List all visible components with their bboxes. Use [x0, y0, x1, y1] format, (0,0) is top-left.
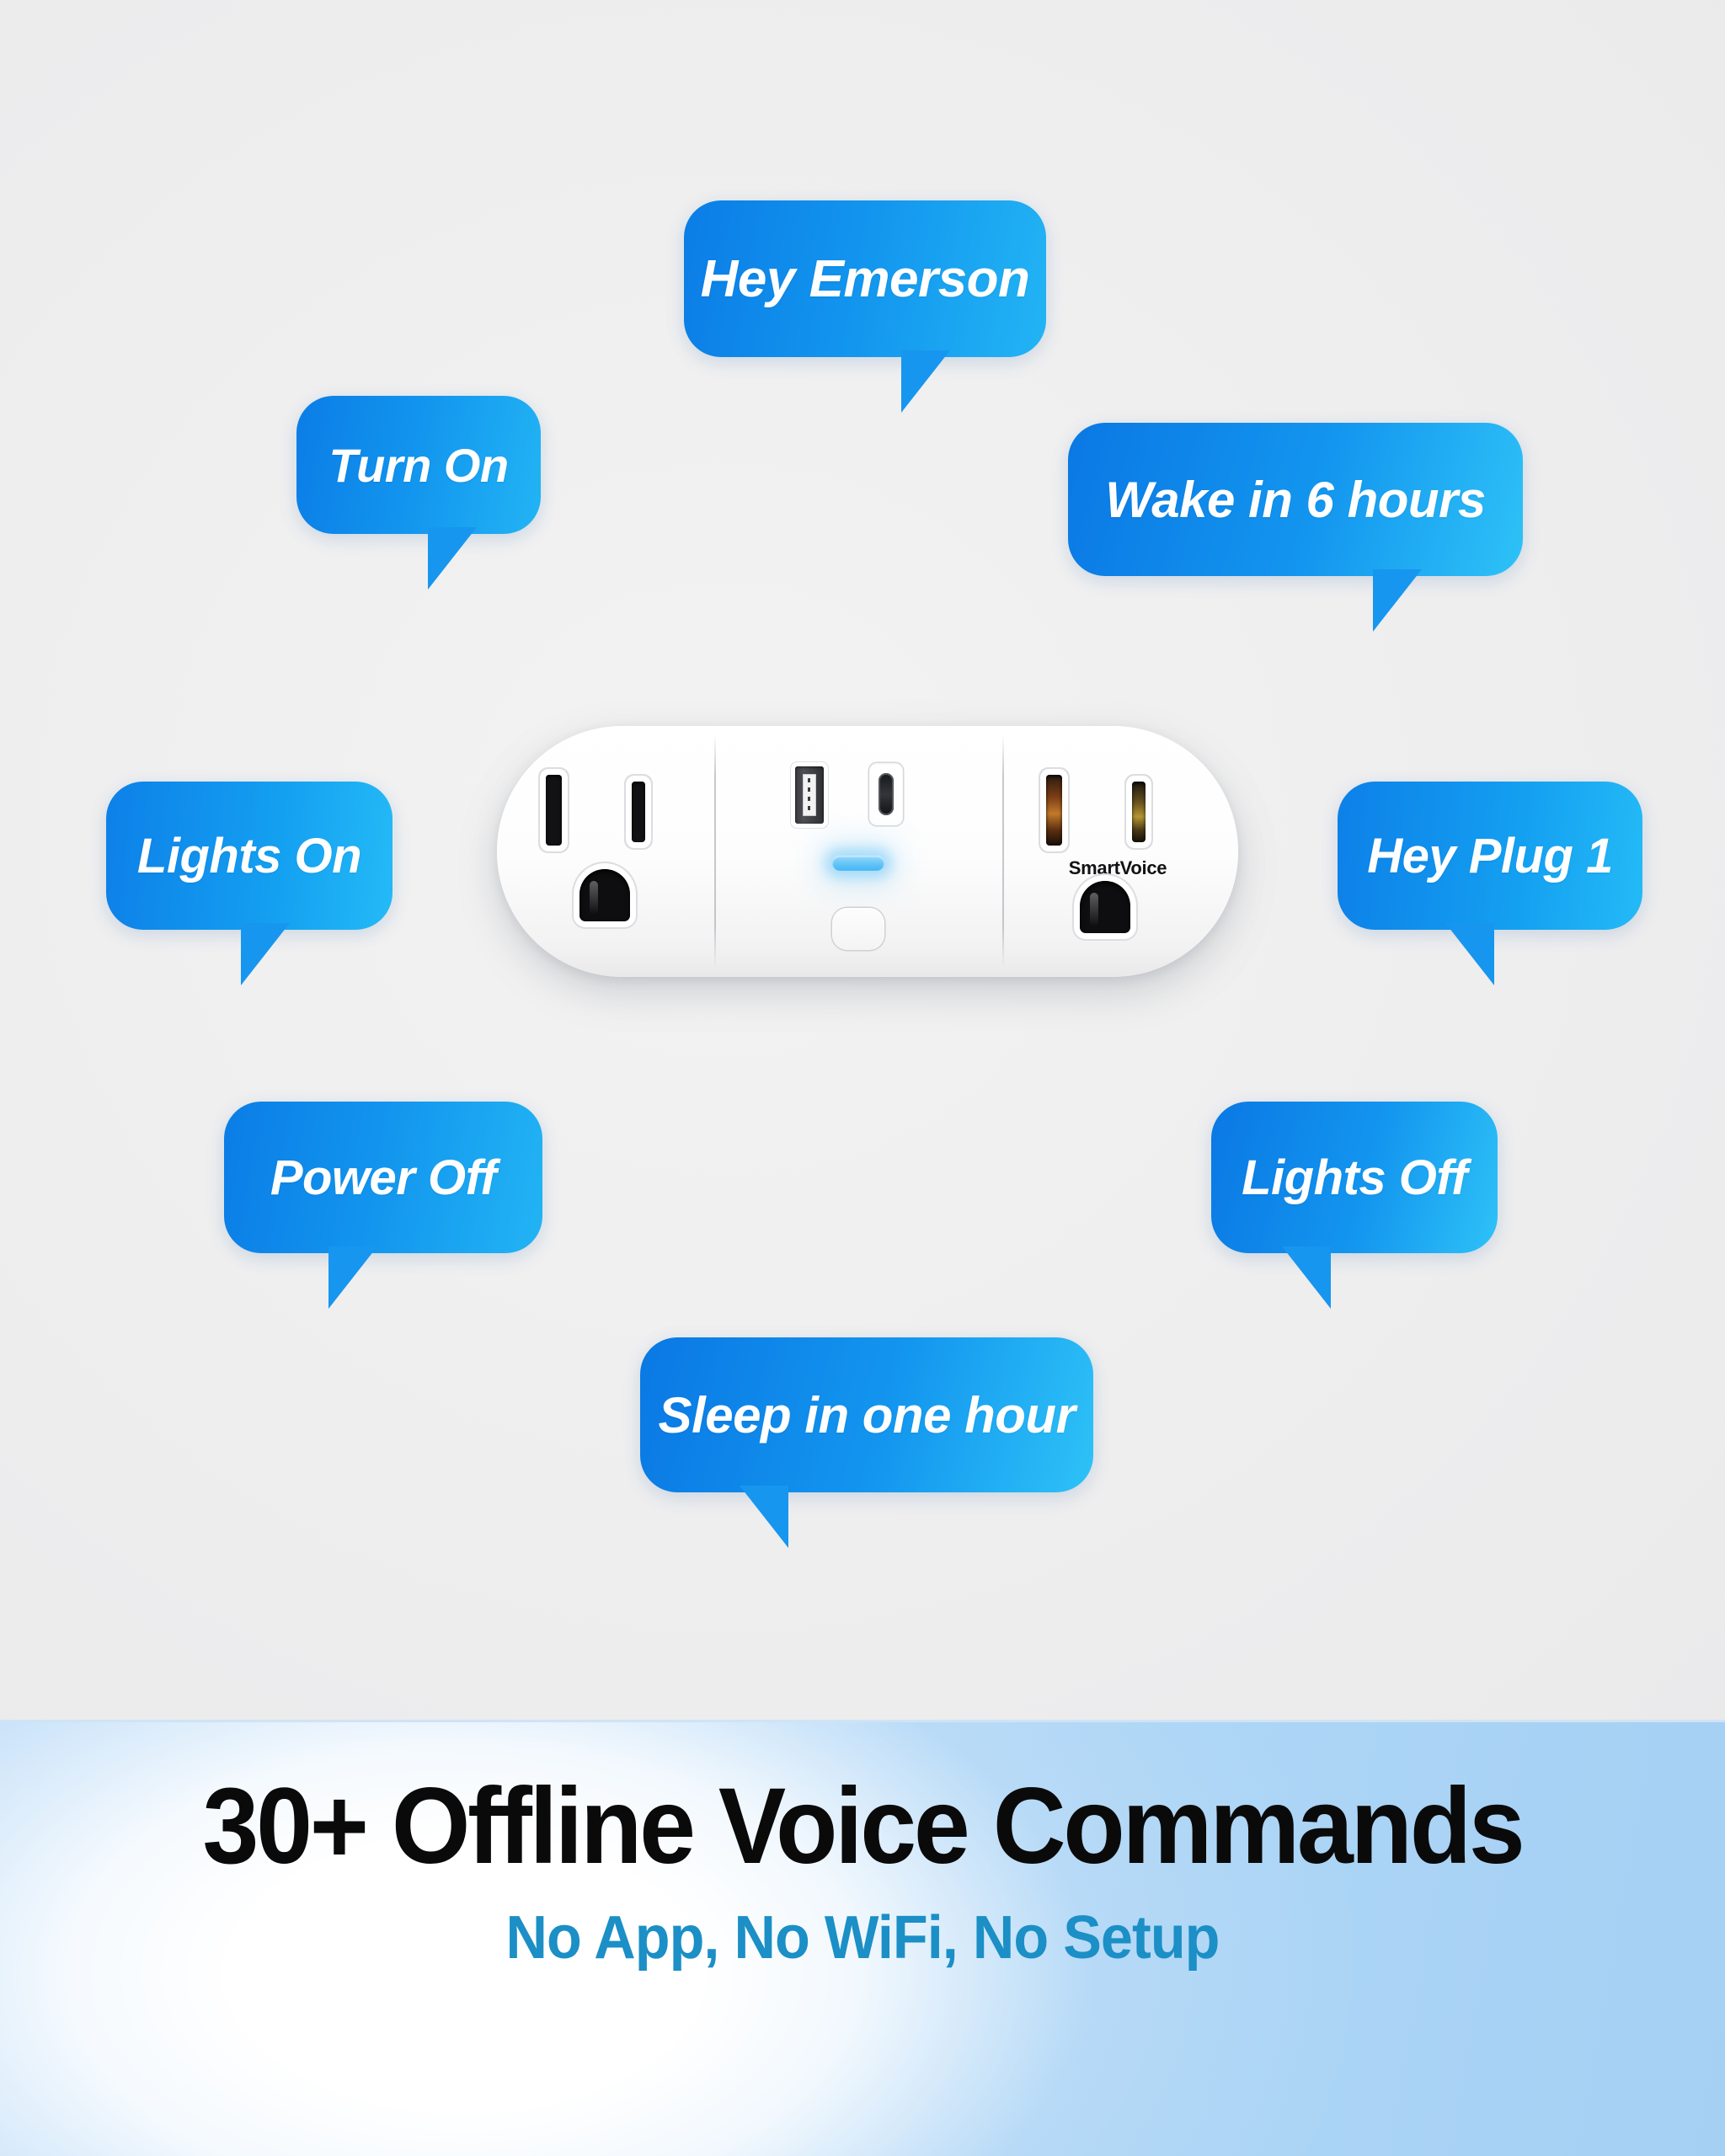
outlet-left-neutral-slot	[546, 775, 562, 846]
speech-bubble-wake-in-6-hours: Wake in 6 hours	[1068, 423, 1523, 576]
bubble-tail-hey-emerson	[901, 350, 950, 413]
smart-plug-device: SmartVoice	[497, 726, 1238, 977]
banner-subline: No App, No WiFi, No Setup	[43, 1908, 1682, 1968]
bubble-label-hey-plug-1: Hey Plug 1	[1367, 828, 1613, 884]
device-seam-right	[1002, 734, 1004, 969]
bubble-tail-wake-in-6-hours	[1373, 569, 1422, 632]
bubble-label-power-off: Power Off	[270, 1150, 496, 1206]
bubble-label-turn-on: Turn On	[328, 438, 508, 493]
product-marketing-image: Hey Emerson Turn On Wake in 6 hours Ligh…	[0, 0, 1725, 2156]
bubble-tail-lights-on	[241, 923, 290, 985]
outlet-right-hot-slot	[1132, 782, 1146, 842]
bubble-tail-lights-off	[1282, 1246, 1331, 1309]
bubble-tail-turn-on	[428, 527, 477, 590]
outlet-left-ground-hole	[579, 869, 630, 921]
bubble-label-wake-in-6-hours: Wake in 6 hours	[1105, 471, 1486, 529]
banner-headline: 30+ Offline Voice Commands	[51, 1773, 1673, 1881]
speech-bubble-hey-emerson: Hey Emerson	[684, 200, 1046, 357]
bubble-label-lights-off: Lights Off	[1242, 1150, 1467, 1206]
speech-bubble-power-off: Power Off	[224, 1102, 542, 1253]
speech-bubble-lights-off: Lights Off	[1211, 1102, 1498, 1253]
bottom-banner: 30+ Offline Voice Commands No App, No Wi…	[0, 1720, 1725, 2156]
power-button[interactable]	[832, 908, 884, 950]
outlet-left-hot-slot	[632, 782, 645, 842]
bubble-tail-power-off	[328, 1246, 377, 1309]
brand-label-smartvoice: SmartVoice	[1038, 857, 1198, 879]
outlet-right-neutral-slot	[1046, 775, 1062, 846]
bubble-label-hey-emerson: Hey Emerson	[701, 249, 1030, 309]
led-status-indicator	[832, 856, 884, 871]
center-control-panel	[714, 726, 1002, 977]
speech-bubble-turn-on: Turn On	[296, 396, 541, 534]
speech-bubble-lights-on: Lights On	[106, 782, 393, 930]
ac-outlet-right: SmartVoice	[1038, 775, 1198, 940]
speech-bubble-hey-plug-1: Hey Plug 1	[1338, 782, 1642, 930]
bubble-label-lights-on: Lights On	[137, 828, 361, 884]
usb-c-port	[869, 763, 903, 825]
bubble-tail-sleep-in-one-hour	[740, 1486, 788, 1548]
outlet-right-ground-hole	[1080, 881, 1130, 933]
usb-a-port	[795, 766, 824, 824]
speech-bubble-sleep-in-one-hour: Sleep in one hour	[640, 1337, 1093, 1492]
bubble-tail-hey-plug-1	[1445, 923, 1494, 985]
ac-outlet-left	[537, 775, 697, 940]
bubble-label-sleep-in-one-hour: Sleep in one hour	[659, 1386, 1076, 1444]
